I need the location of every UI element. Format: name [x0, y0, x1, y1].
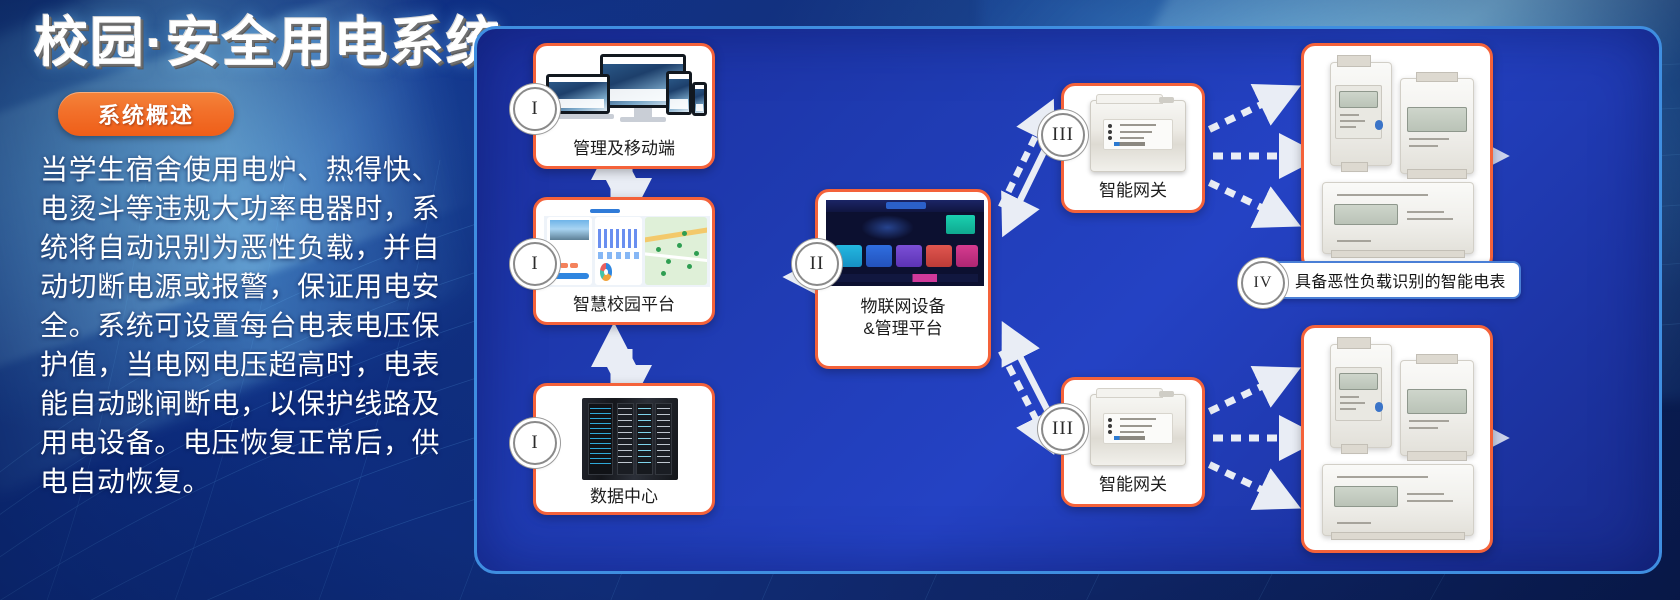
page-title: 校园·安全用电系统: [34, 14, 502, 72]
campus-platform-screenshot: [544, 207, 710, 287]
iot-dashboard-screenshot: [826, 200, 984, 286]
node-iot-platform-label: 物联网设备 &管理平台: [818, 296, 988, 340]
node-data-center-label: 数据中心: [536, 486, 712, 508]
node-gateway-top-label: 智能网关: [1064, 180, 1202, 202]
gateway-device-illustration: [1090, 100, 1186, 172]
server-rack-illustration: [582, 398, 678, 480]
node-data-center[interactable]: 数据中心: [533, 383, 715, 515]
node-campus-platform-label: 智慧校园平台: [536, 294, 712, 316]
callout-smart-meter[interactable]: 具备恶性负载识别的智能电表: [1253, 261, 1521, 299]
node-gateway-bottom-label: 智能网关: [1064, 474, 1202, 496]
numeral-badge-iot-platform: II: [795, 242, 839, 286]
numeral-badge-campus-platform: I: [513, 242, 557, 286]
numeral-badge-data-center: I: [513, 421, 557, 465]
poster-canvas: 校园·安全用电系统 系统概述 当学生宿舍使用电炉、热得快、电烫斗等违规大功率电器…: [0, 0, 1680, 600]
numeral-badge-callout: IV: [1241, 261, 1285, 305]
devices-illustration: [546, 54, 708, 132]
monitor-base: [620, 117, 666, 122]
node-gateway-bottom[interactable]: 智能网关: [1061, 377, 1205, 507]
smart-meter-din-rail-2: [1322, 464, 1474, 536]
gateway-device-illustration-2: [1090, 394, 1186, 466]
node-admin-mobile-label: 管理及移动端: [536, 138, 712, 160]
smart-meter-three-phase-2: [1400, 360, 1474, 456]
numeral-badge-gateway-bottom: III: [1041, 407, 1085, 451]
smart-meter-single-phase-2: [1330, 344, 1392, 448]
meters-group-top[interactable]: [1301, 43, 1493, 271]
node-campus-platform[interactable]: 智慧校园平台: [533, 197, 715, 325]
numeral-badge-admin-mobile: I: [513, 87, 557, 131]
overview-body-text: 当学生宿舍使用电炉、热得快、电烫斗等违规大功率电器时，系统将自动识别为恶性负载，…: [40, 150, 440, 501]
phone-icon: [692, 82, 707, 116]
smart-meter-single-phase: [1330, 62, 1392, 166]
tablet-icon: [666, 71, 692, 115]
numeral-badge-gateway-top: III: [1041, 113, 1085, 157]
overview-badge-label: 系统概述: [98, 98, 194, 130]
node-gateway-top[interactable]: 智能网关: [1061, 83, 1205, 213]
smart-meter-three-phase: [1400, 78, 1474, 174]
node-iot-platform[interactable]: 物联网设备 &管理平台: [815, 189, 991, 369]
meters-group-bottom[interactable]: [1301, 325, 1493, 553]
overview-badge: 系统概述: [58, 92, 234, 136]
node-admin-mobile[interactable]: 管理及移动端: [533, 43, 715, 169]
callout-smart-meter-label: 具备恶性负载识别的智能电表: [1295, 268, 1506, 292]
arrow-campus-datacenter: [614, 349, 629, 383]
architecture-diagram-panel: 管理及移动端 I: [474, 26, 1662, 574]
smart-meter-din-rail: [1322, 182, 1474, 254]
intro-panel: 校园·安全用电系统 系统概述 当学生宿舍使用电炉、热得快、电烫斗等违规大功率电器…: [0, 0, 470, 600]
